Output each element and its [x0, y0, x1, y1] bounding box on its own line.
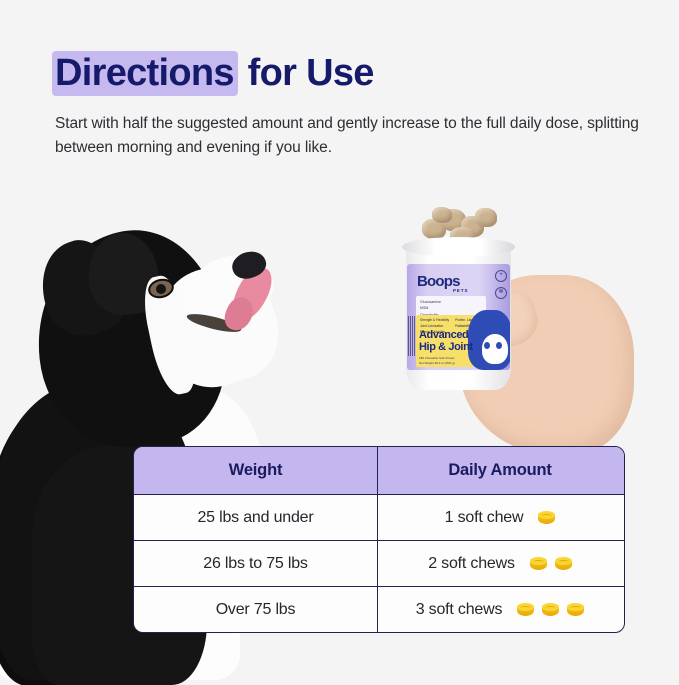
product-name: Advanced Hip & Joint: [419, 330, 473, 353]
jar-badge-icons: + ✻: [495, 270, 507, 299]
amount-label: 1 soft chew: [445, 509, 524, 527]
product-name-line1: Advanced: [419, 330, 473, 342]
cell-weight: 25 lbs and under: [134, 495, 378, 540]
chew-icon: [530, 557, 547, 571]
column-header-daily-amount: Daily Amount: [378, 447, 622, 494]
plus-icon: +: [495, 270, 507, 282]
table-row: 25 lbs and under 1 soft chew: [134, 495, 624, 541]
page-title-highlight: Directions: [52, 51, 238, 96]
jar-dog-eye-right: [496, 342, 502, 349]
cell-daily-amount: 2 soft chews: [378, 541, 622, 586]
amount-label: 3 soft chews: [416, 601, 503, 619]
cell-daily-amount: 1 soft chew: [378, 495, 622, 540]
jar-dog-face: [482, 334, 508, 364]
chew-icon: [542, 603, 559, 617]
cell-weight: Over 75 lbs: [134, 587, 378, 632]
jar-rim: [402, 237, 515, 257]
chew-lump: [432, 207, 452, 223]
chew-lump: [475, 208, 497, 227]
chew-icon: [517, 603, 534, 617]
directions-for-use-page: Directions for Use Start with half the s…: [0, 0, 679, 679]
jar-fine-print: 180 Chewable Soft Chews Net Weight 28.2 …: [419, 356, 455, 366]
chew-icon: [555, 557, 572, 571]
amount-label: 2 soft chews: [428, 555, 515, 573]
page-title: Directions for Use: [55, 52, 645, 95]
table-row: 26 lbs to 75 lbs 2 soft chews: [134, 541, 624, 587]
chew-icon-group: [517, 603, 584, 617]
cell-daily-amount: 3 soft chews: [378, 587, 622, 632]
chew-icon: [538, 511, 555, 525]
dog-eye-pupil: [156, 284, 166, 294]
header: Directions for Use Start with half the s…: [55, 52, 645, 160]
paw-icon: ✻: [495, 287, 507, 299]
cell-weight: 26 lbs to 75 lbs: [134, 541, 378, 586]
page-title-rest: for Use: [238, 52, 374, 94]
column-header-weight: Weight: [134, 447, 378, 494]
product-name-line2: Hip & Joint: [419, 342, 473, 354]
jar-label: Boops PETS Glucosamine MSM Chondroitin S…: [407, 264, 510, 370]
brand-subtitle: PETS: [453, 288, 468, 293]
barcode-icon: [408, 316, 415, 356]
dosage-table: Weight Daily Amount 25 lbs and under 1 s…: [133, 446, 625, 633]
table-row: Over 75 lbs 3 soft chews: [134, 587, 624, 632]
chew-icon-group: [538, 511, 555, 525]
table-header-row: Weight Daily Amount: [134, 447, 624, 495]
page-subtitle: Start with half the suggested amount and…: [55, 112, 640, 160]
chew-icon-group: [530, 557, 572, 571]
jar-dog-eye-left: [484, 342, 490, 349]
chew-icon: [567, 603, 584, 617]
